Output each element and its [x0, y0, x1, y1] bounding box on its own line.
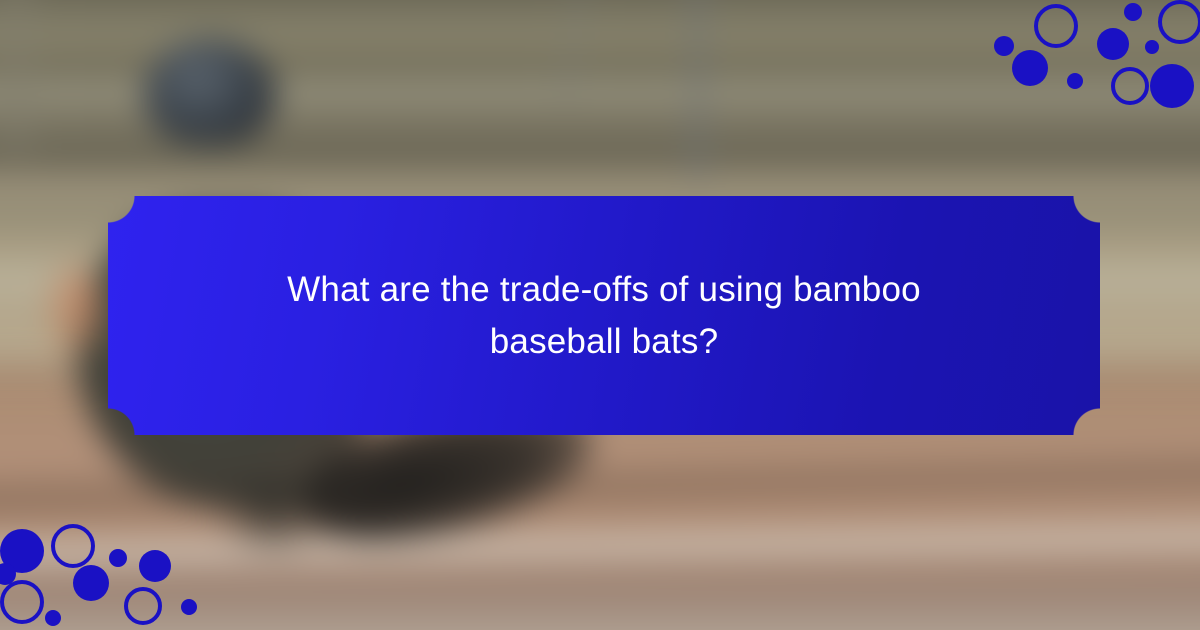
bleacher-post-left: [0, 0, 46, 153]
bleacher-band: [0, 15, 1200, 47]
bleacher-band: [0, 137, 1200, 169]
question-text: What are the trade-offs of using bamboo …: [184, 264, 1024, 368]
catcher-glove: [214, 477, 334, 557]
field-pole: [690, 0, 706, 185]
catcher-helmet: [145, 40, 275, 145]
question-card: What are the trade-offs of using bamboo …: [108, 196, 1100, 435]
question-card-graphic: What are the trade-offs of using bamboo …: [0, 0, 1200, 630]
catcher-skin: [48, 266, 108, 356]
